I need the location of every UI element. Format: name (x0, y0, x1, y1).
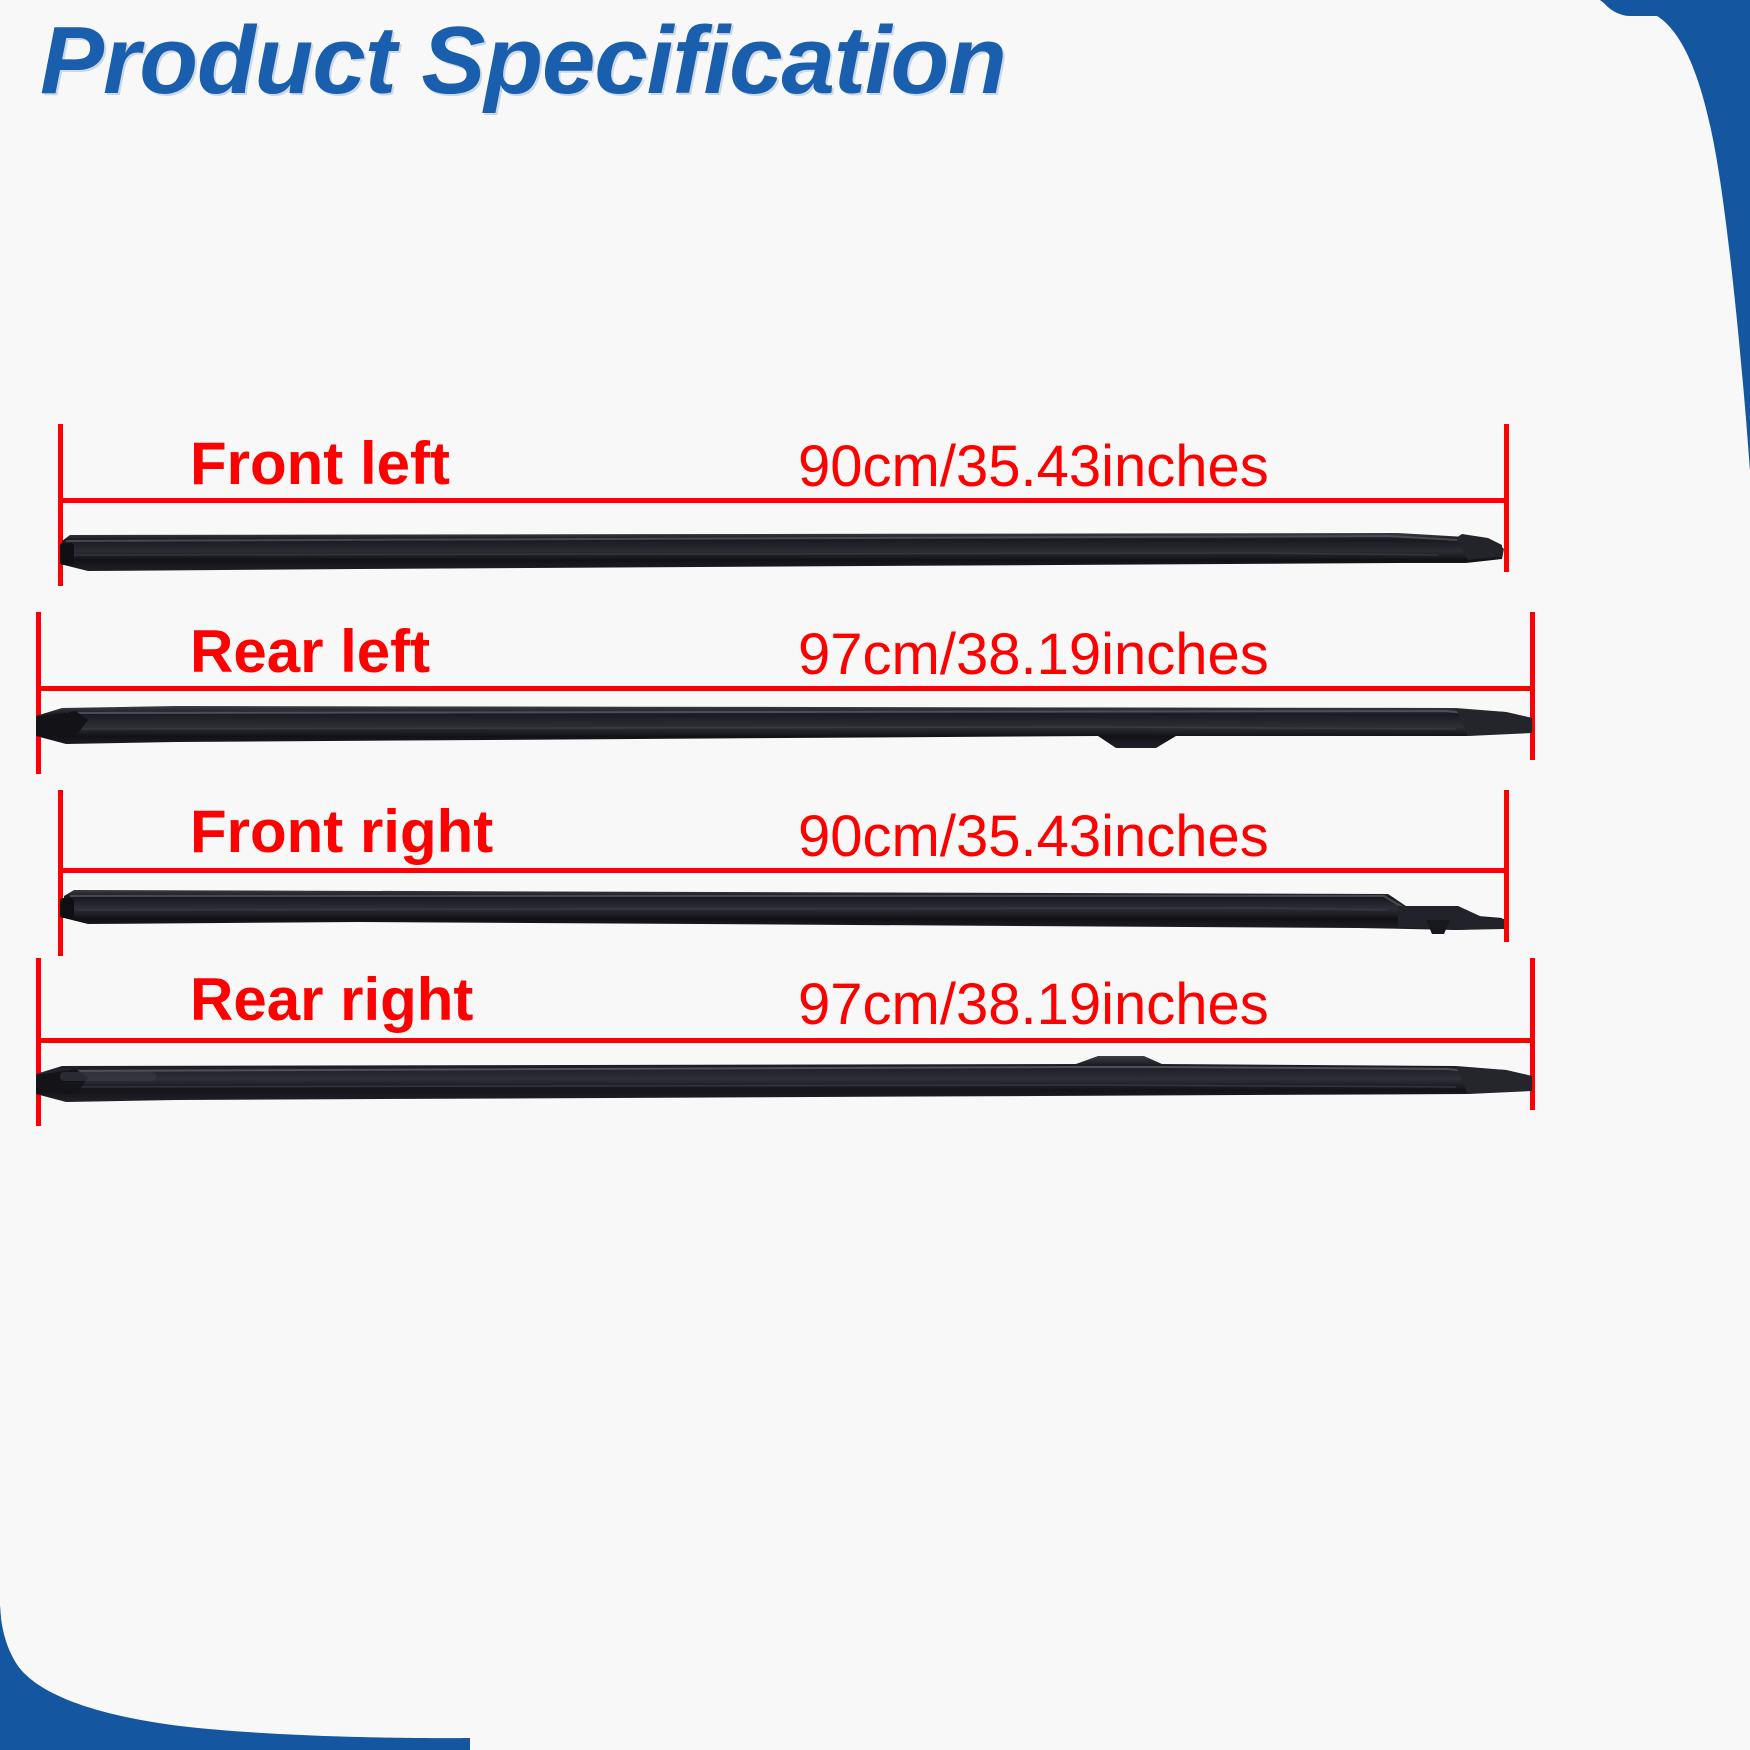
weatherstrip-part-rear-left (36, 702, 1546, 764)
weatherstrip-part-front-right (58, 886, 1518, 944)
bracket-line (36, 1038, 1535, 1043)
bottom-left-corner-decoration (0, 1420, 470, 1750)
spec-label-rear-right: Rear right (190, 970, 473, 1030)
spec-dimension-rear-right: 97cm/38.19inches (798, 976, 1269, 1034)
bracket-line (36, 686, 1535, 691)
spec-label-rear-left: Rear left (190, 622, 430, 682)
spec-dimension-front-right: 90cm/35.43inches (798, 808, 1269, 866)
top-right-corner-decoration (1420, 0, 1750, 470)
weatherstrip-part-rear-right (36, 1054, 1546, 1118)
spec-label-front-left: Front left (190, 434, 450, 494)
spec-dimension-rear-left: 97cm/38.19inches (798, 626, 1269, 684)
weatherstrip-part-front-left (58, 529, 1518, 585)
product-specification-page: Product Specification Front left 90cm/35… (0, 0, 1750, 1750)
spec-dimension-front-left: 90cm/35.43inches (798, 438, 1269, 496)
bracket-line (58, 498, 1509, 503)
bracket-line (58, 868, 1509, 873)
spec-label-front-right: Front right (190, 802, 493, 862)
page-title: Product Specification (40, 6, 1006, 116)
